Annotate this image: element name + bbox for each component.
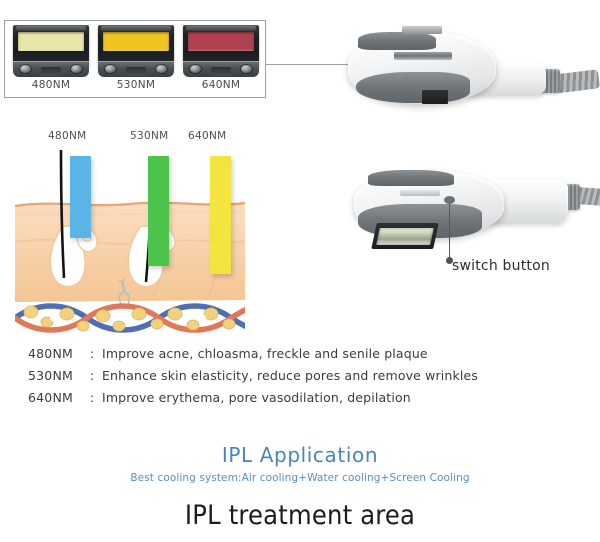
description-text: Enhance skin elasticity, reduce pores an… xyxy=(102,368,478,383)
beam-640nm xyxy=(210,156,231,274)
screw-icon xyxy=(190,65,201,73)
screw-icon xyxy=(105,65,116,73)
ipl-handpiece-top-view xyxy=(340,14,598,126)
cartridge-notch xyxy=(41,67,61,76)
description-wavelength: 480NM xyxy=(28,346,90,361)
ipl-application-title: IPL Application xyxy=(0,443,600,467)
handpiece-top-slot xyxy=(402,26,442,34)
filter-cartridge-480: 480NM xyxy=(13,25,89,77)
beam-480nm xyxy=(70,156,91,238)
cartridge-body-480 xyxy=(13,25,89,77)
skin-cross-section-diagram xyxy=(15,150,245,335)
cartridge-filter-window xyxy=(188,32,254,51)
cartridge-top-rail xyxy=(101,26,171,31)
filter-cartridge-530: 530NM xyxy=(98,25,174,77)
beam-530nm xyxy=(148,156,169,266)
screw-icon xyxy=(156,65,167,73)
filter-cartridge-640: 640NM xyxy=(183,25,259,77)
cartridge-base xyxy=(98,61,174,77)
handpiece-top-grip xyxy=(358,32,436,50)
cartridge-filter-window xyxy=(18,32,84,51)
ipl-treatment-area-title: IPL treatment area xyxy=(0,500,600,531)
cartridge-top-rail xyxy=(16,26,86,31)
cartridge-notch xyxy=(211,67,231,76)
description-row-530: 530NM : Enhance skin elasticity, reduce … xyxy=(28,368,498,383)
ipl-handpiece-bottom-view xyxy=(348,160,600,272)
cartridge-label-530: 530NM xyxy=(98,79,174,91)
cartridge-body-530 xyxy=(98,25,174,77)
handpiece-top-slot xyxy=(400,190,440,196)
description-wavelength: 640NM xyxy=(28,390,90,405)
skin-diagram-wavelength-labels: 480NM 530NM 640NM xyxy=(0,130,262,148)
description-colon: : xyxy=(90,346,102,361)
filter-cartridge-panel: 480NM 530NM xyxy=(4,20,266,98)
handpiece-top-grip xyxy=(368,170,454,186)
cartridge-body-640 xyxy=(183,25,259,77)
description-wavelength: 530NM xyxy=(28,368,90,383)
description-colon: : xyxy=(90,368,102,383)
skin-label-480: 480NM xyxy=(48,130,86,142)
description-text: Improve erythema, pore vasodilation, dep… xyxy=(102,390,411,405)
description-row-640: 640NM : Improve erythema, pore vasodilat… xyxy=(28,390,498,405)
description-text: Improve acne, chloasma, freckle and seni… xyxy=(102,346,428,361)
handpiece-bottom-grip xyxy=(356,72,470,103)
cartridge-label-480: 480NM xyxy=(13,79,89,91)
screw-icon xyxy=(71,65,82,73)
handpiece-emitter-crystal xyxy=(376,228,434,245)
description-colon: : xyxy=(90,390,102,405)
cartridge-base xyxy=(183,61,259,77)
screw-icon xyxy=(20,65,31,73)
switch-button-label: switch button xyxy=(452,258,550,274)
wavelength-description-list: 480NM : Improve acne, chloasma, freckle … xyxy=(28,346,498,412)
handpiece-button-bar[interactable] xyxy=(394,52,452,60)
ipl-application-subtitle: Best cooling system:Air cooling+Water co… xyxy=(0,472,600,484)
callout-connector-line xyxy=(449,203,450,259)
cartridge-notch xyxy=(126,67,146,76)
cartridge-top-rail xyxy=(186,26,256,31)
cartridge-filter-window xyxy=(103,32,169,51)
skin-label-530: 530NM xyxy=(130,130,168,142)
skin-label-640: 640NM xyxy=(188,130,226,142)
screw-icon xyxy=(241,65,252,73)
description-row-480: 480NM : Improve acne, chloasma, freckle … xyxy=(28,346,498,361)
handpiece-emitter-window xyxy=(422,90,448,104)
cartridge-label-640: 640NM xyxy=(183,79,259,91)
cartridge-base xyxy=(13,61,89,77)
